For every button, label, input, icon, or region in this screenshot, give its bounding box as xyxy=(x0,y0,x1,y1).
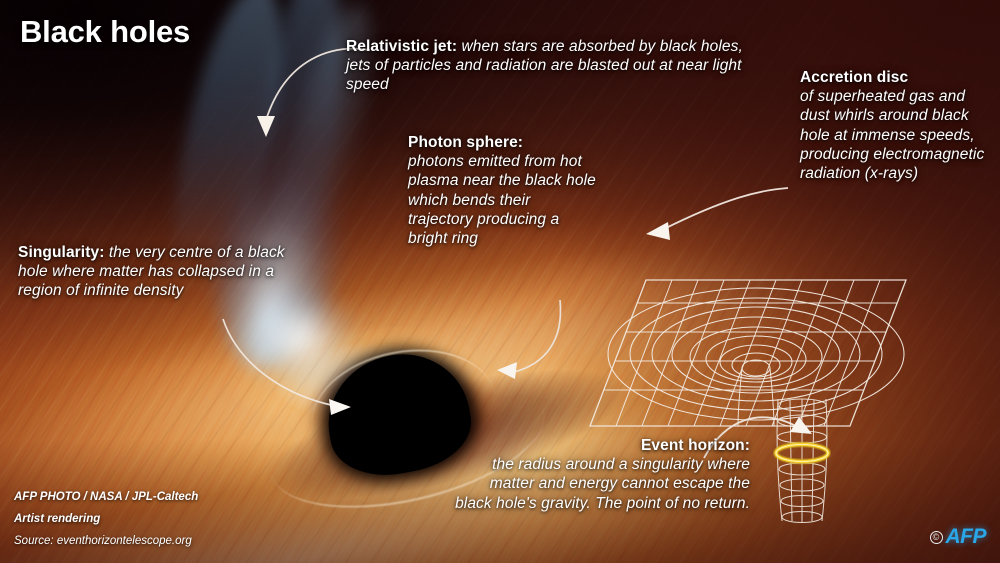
annotation-heading: Photon sphere: xyxy=(408,134,523,151)
event-horizon-funnel xyxy=(760,395,850,535)
credits-block: AFP PHOTO / NASA / JPL-Caltech Artist re… xyxy=(14,487,198,553)
credit-source: Source: eventhorizontelescope.org xyxy=(14,531,198,553)
annotation-relativistic-jet: Relativistic jet: when stars are absorbe… xyxy=(346,37,746,95)
credit-rendering: Artist rendering xyxy=(14,509,198,531)
annotation-singularity: Singularity: the very centre of a black … xyxy=(18,243,318,301)
annotation-body: of superheated gas and dust whirls aroun… xyxy=(800,88,984,182)
annotation-heading: Relativistic jet: xyxy=(346,38,457,55)
afp-wordmark: AFP xyxy=(946,525,987,549)
annotation-heading: Accretion disc xyxy=(800,69,908,86)
annotation-photon-sphere: Photon sphere: photons emitted from hot … xyxy=(408,133,598,248)
annotation-heading: Event horizon: xyxy=(641,437,750,454)
copyright-icon: © xyxy=(930,531,943,544)
annotation-body: the radius around a singularity where ma… xyxy=(455,456,750,511)
page-title: Black holes xyxy=(20,14,190,50)
annotation-event-horizon: Event horizon: the radius around a singu… xyxy=(452,436,750,513)
credit-photo: AFP PHOTO / NASA / JPL-Caltech xyxy=(14,487,198,509)
infographic-canvas: Black holes Relativistic jet: when stars… xyxy=(0,0,1000,563)
annotation-accretion-disc: Accretion disc of superheated gas and du… xyxy=(800,68,998,183)
annotation-heading: Singularity: xyxy=(18,244,104,261)
afp-logo: © AFP xyxy=(930,525,987,549)
annotation-body: photons emitted from hot plasma near the… xyxy=(408,153,596,247)
